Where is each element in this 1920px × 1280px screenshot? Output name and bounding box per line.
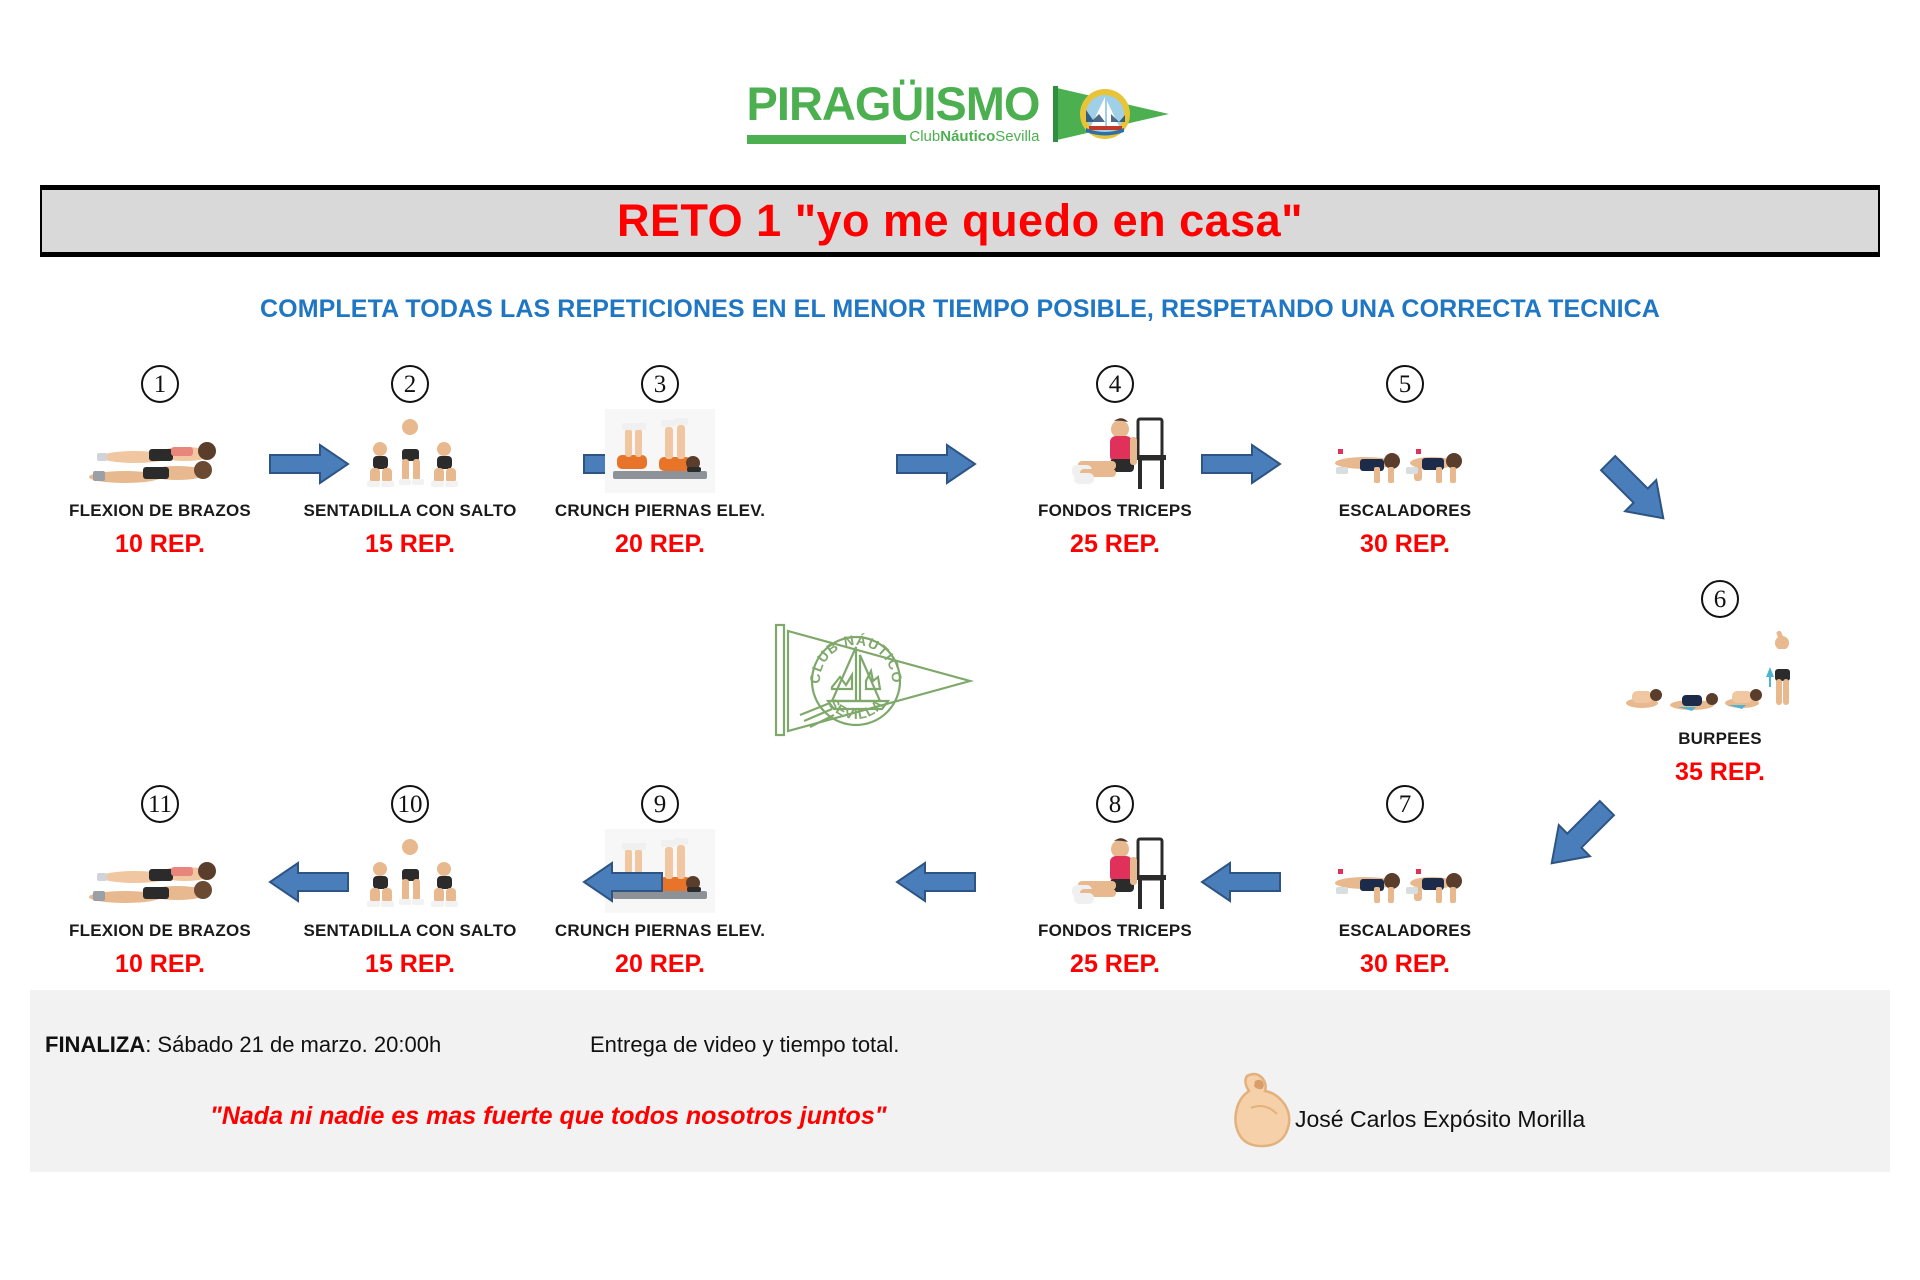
- exercise-card-3[interactable]: 3 CRUNCH PIERNAS ELEV. 20 REP.: [545, 365, 775, 559]
- exercise-card-5[interactable]: 5 ESCALADORES 30 REP.: [1290, 365, 1520, 559]
- exercise-reps: 30 REP.: [1290, 950, 1520, 979]
- tricep-dip-icon: [1000, 831, 1230, 913]
- exercise-reps: 30 REP.: [1290, 530, 1520, 559]
- exercise-number: 5: [1386, 365, 1424, 403]
- exercise-number: 4: [1096, 365, 1134, 403]
- exercise-card-4[interactable]: 4 FONDOS TRICEPS 25 REP.: [1000, 365, 1230, 559]
- exercise-reps: 20 REP.: [545, 950, 775, 979]
- exercise-name: ESCALADORES: [1290, 501, 1520, 521]
- arrow-left-2: [895, 860, 977, 909]
- exercise-number: 11: [141, 785, 179, 823]
- exercise-number: 6: [1701, 580, 1739, 618]
- exercise-reps: 25 REP.: [1000, 530, 1230, 559]
- pushup-icon: [45, 411, 275, 493]
- exercise-card-8[interactable]: 8 FONDOS TRICEPS 25 REP.: [1000, 785, 1230, 979]
- motivational-quote: "Nada ni nadie es mas fuerte que todos n…: [210, 1102, 887, 1131]
- exercise-name: FONDOS TRICEPS: [1000, 921, 1230, 941]
- exercise-name: FLEXION DE BRAZOS: [45, 501, 275, 521]
- exercise-number: 9: [641, 785, 679, 823]
- header-logo: PIRAGÜISMO ClubNáuticoSevilla: [0, 80, 1920, 160]
- exercise-card-6[interactable]: 6 BURPEES 35 REP.: [1585, 580, 1855, 787]
- exercise-card-7[interactable]: 7 ESCALADORES 30 REP.: [1290, 785, 1520, 979]
- author-name: José Carlos Expósito Morilla: [1295, 1106, 1585, 1133]
- arrow-down-right: [1585, 440, 1685, 545]
- page-title: RETO 1 "yo me quedo en casa": [617, 195, 1303, 247]
- deadline-value: : Sábado 21 de marzo. 20:00h: [145, 1032, 441, 1057]
- delivery-note: Entrega de video y tiempo total.: [590, 1032, 899, 1058]
- exercise-name: SENTADILLA CON SALTO: [295, 501, 525, 521]
- pushup-icon: [45, 831, 275, 913]
- brand-subtext-sevilla: Sevilla: [995, 128, 1039, 145]
- exercise-reps: 25 REP.: [1000, 950, 1230, 979]
- exercise-reps: 10 REP.: [45, 530, 275, 559]
- burpee-icon: [1585, 626, 1855, 721]
- brand-underline-bar: [747, 135, 907, 144]
- exercise-reps: 15 REP.: [295, 530, 525, 559]
- exercise-reps: 15 REP.: [295, 950, 525, 979]
- arrow-right-3: [895, 442, 977, 491]
- mountain-climber-icon: [1290, 831, 1520, 913]
- title-bar: RETO 1 "yo me quedo en casa": [40, 185, 1880, 257]
- exercise-name: FLEXION DE BRAZOS: [45, 921, 275, 941]
- exercise-number: 8: [1096, 785, 1134, 823]
- brand-name: PIRAGÜISMO: [747, 80, 1040, 127]
- mountain-climber-icon: [1290, 411, 1520, 493]
- deadline-label: FINALIZA: [45, 1032, 145, 1057]
- brand-subtext-club: Club: [909, 128, 940, 145]
- exercise-name: ESCALADORES: [1290, 921, 1520, 941]
- deadline-line: FINALIZA: Sábado 21 de marzo. 20:00h: [45, 1032, 441, 1058]
- exercise-number: 7: [1386, 785, 1424, 823]
- arrow-left-3: [582, 860, 664, 909]
- flexed-biceps-icon: [1225, 1068, 1295, 1153]
- exercise-number: 3: [641, 365, 679, 403]
- exercise-name: BURPEES: [1585, 729, 1855, 749]
- exercise-card-1[interactable]: 1 FLEXION DE BRAZOS 10 REP.: [45, 365, 275, 559]
- arrow-right-4: [1200, 442, 1282, 491]
- exercise-reps: 20 REP.: [545, 530, 775, 559]
- sailboat-pennant-icon: [1053, 84, 1173, 149]
- exercise-reps: 35 REP.: [1585, 758, 1855, 787]
- exercise-card-2[interactable]: 2 SENTADILLA CON SALTO 15 REP.: [295, 365, 525, 559]
- tricep-dip-icon: [1000, 411, 1230, 493]
- exercise-number: 1: [141, 365, 179, 403]
- jump-squat-icon: [295, 411, 525, 493]
- exercise-number: 10: [391, 785, 429, 823]
- exercise-name: CRUNCH PIERNAS ELEV.: [545, 921, 775, 941]
- brand-underline-row: ClubNáuticoSevilla: [747, 129, 1040, 144]
- arrow-left-4: [268, 860, 350, 909]
- exercise-name: SENTADILLA CON SALTO: [295, 921, 525, 941]
- arrow-down-left: [1530, 785, 1630, 890]
- brand-subtext: ClubNáuticoSevilla: [909, 129, 1039, 144]
- footer-band: FINALIZA: Sábado 21 de marzo. 20:00h Ent…: [30, 990, 1890, 1172]
- exercise-card-11[interactable]: 11 FLEXION DE BRAZOS 10 REP.: [45, 785, 275, 979]
- exercise-name: FONDOS TRICEPS: [1000, 501, 1230, 521]
- brand-wordmark: PIRAGÜISMO ClubNáuticoSevilla: [747, 80, 1040, 144]
- instruction-subtitle: COMPLETA TODAS LAS REPETICIONES EN EL ME…: [0, 295, 1920, 324]
- exercise-name: CRUNCH PIERNAS ELEV.: [545, 501, 775, 521]
- exercise-number: 2: [391, 365, 429, 403]
- leg-raise-crunch-icon: [545, 411, 775, 493]
- club-nautico-watermark-logo: x CLUB NÁUTICO SEVILLA: [770, 615, 1000, 750]
- brand-subtext-nautico: Náutico: [940, 128, 995, 145]
- exercise-reps: 10 REP.: [45, 950, 275, 979]
